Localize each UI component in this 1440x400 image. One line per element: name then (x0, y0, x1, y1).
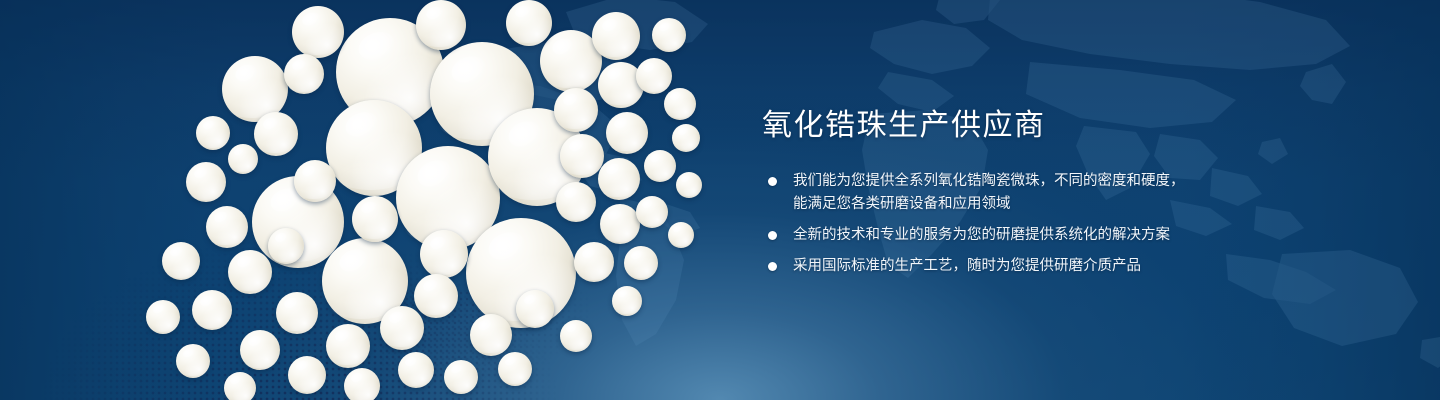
list-item: 全新的技术和专业的服务为您的研磨提供系统化的解决方案 (762, 224, 1382, 247)
list-item: 我们能为您提供全系列氧化锆陶瓷微珠，不同的密度和硬度， 能满足您各类研磨设备和应… (762, 170, 1382, 216)
page-title: 氧化锆珠生产供应商 (762, 108, 1382, 144)
bullet-text-line: 能满足您各类研磨设备和应用领域 (793, 193, 1382, 216)
list-item: 采用国际标准的生产工艺，随时为您提供研磨介质产品 (762, 255, 1382, 278)
feature-bullet-list: 我们能为您提供全系列氧化锆陶瓷微珠，不同的密度和硬度， 能满足您各类研磨设备和应… (762, 170, 1382, 278)
bullet-text-line: 采用国际标准的生产工艺，随时为您提供研磨介质产品 (793, 255, 1382, 278)
bullet-dot-icon (768, 231, 777, 240)
bullet-dot-icon (768, 262, 777, 271)
bullet-text-line: 我们能为您提供全系列氧化锆陶瓷微珠，不同的密度和硬度， (793, 170, 1382, 193)
bullet-dot-icon (768, 177, 777, 186)
hero-banner: 氧化锆珠生产供应商 我们能为您提供全系列氧化锆陶瓷微珠，不同的密度和硬度， 能满… (0, 0, 1440, 400)
banner-text-block: 氧化锆珠生产供应商 我们能为您提供全系列氧化锆陶瓷微珠，不同的密度和硬度， 能满… (762, 108, 1382, 278)
bullet-text-line: 全新的技术和专业的服务为您的研磨提供系统化的解决方案 (793, 224, 1382, 247)
